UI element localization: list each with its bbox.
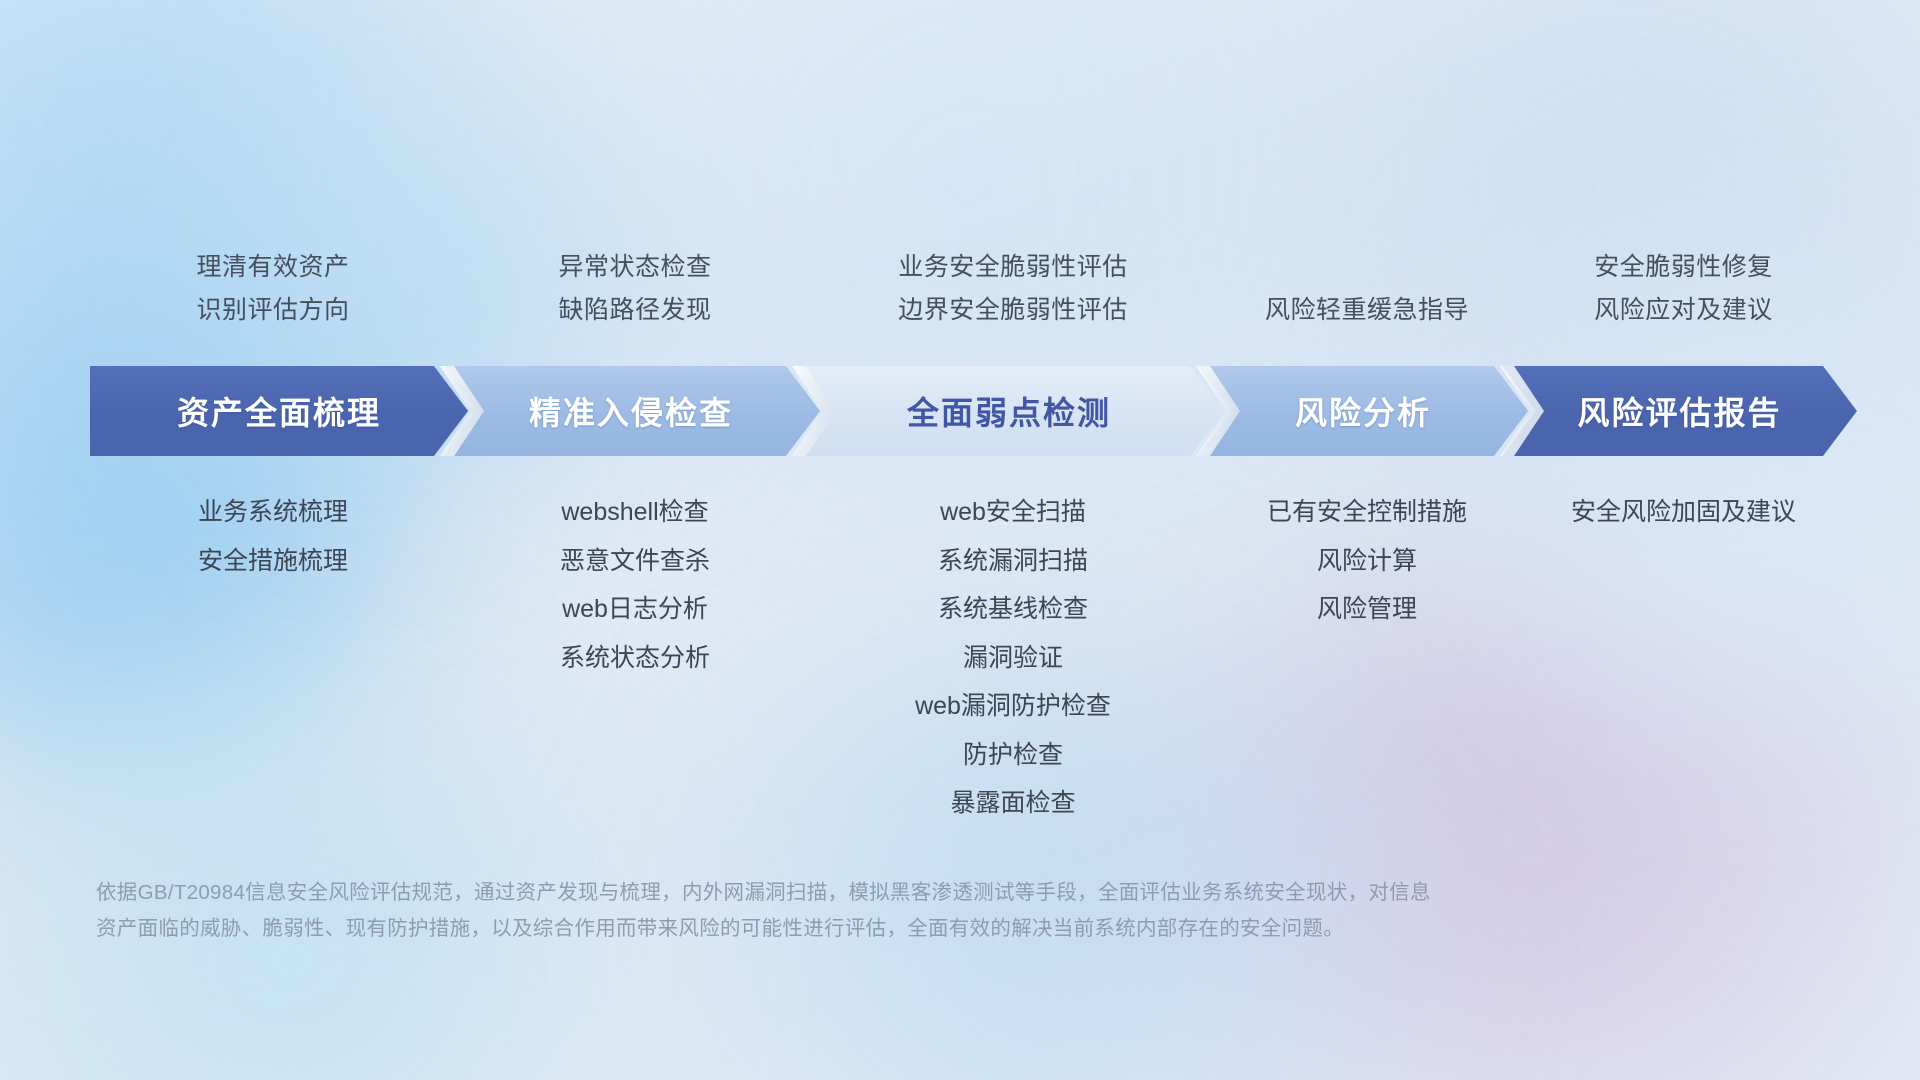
stage-label-weakness-detection: 全面弱点检测	[907, 388, 1111, 434]
process-chevron-band: 资产全面梳理精准入侵检查全面弱点检测风险分析风险评估报告	[90, 366, 1857, 456]
detail-item[interactable]: 防护检查	[613, 731, 1413, 780]
stage-chevron-intrusion-check[interactable]: 精准入侵检查	[442, 366, 820, 456]
footer-description: 依据GB/T20984信息安全风险评估规范，通过资产发现与梳理，内外网漏洞扫描，…	[96, 875, 1626, 947]
detail-list-risk-report: 安全风险加固及建议	[1284, 488, 1920, 537]
stage-chevron-risk-report[interactable]: 风险评估报告	[1502, 366, 1857, 456]
detail-item[interactable]: 漏洞验证	[613, 634, 1413, 683]
footer-line-1: 依据GB/T20984信息安全风险评估规范，通过资产发现与梳理，内外网漏洞扫描，…	[96, 875, 1626, 911]
footer-line-2: 资产面临的威胁、脆弱性、现有防护措施，以及综合作用而带来风险的可能性进行评估，全…	[96, 911, 1626, 947]
top-note: 安全脆弱性修复	[1284, 246, 1920, 289]
stage-chevron-asset-inventory[interactable]: 资产全面梳理	[90, 366, 468, 456]
stage-label-intrusion-check: 精准入侵检查	[529, 388, 733, 434]
stage-chevron-risk-analysis[interactable]: 风险分析	[1198, 366, 1528, 456]
top-notes-risk-report: 安全脆弱性修复风险应对及建议	[1284, 246, 1920, 331]
detail-item[interactable]: 风险计算	[967, 537, 1767, 586]
detail-item[interactable]: 暴露面检查	[613, 779, 1413, 828]
stage-label-risk-report: 风险评估报告	[1577, 388, 1781, 434]
detail-item[interactable]: web漏洞防护检查	[613, 682, 1413, 731]
top-note: 风险应对及建议	[1284, 289, 1920, 332]
detail-item[interactable]: 安全风险加固及建议	[1284, 488, 1920, 537]
stage-label-risk-analysis: 风险分析	[1295, 388, 1431, 434]
stage-chevron-weakness-detection[interactable]: 全面弱点检测	[794, 366, 1224, 456]
detail-item[interactable]: 风险管理	[967, 585, 1767, 634]
stage-label-asset-inventory: 资产全面梳理	[177, 388, 381, 434]
